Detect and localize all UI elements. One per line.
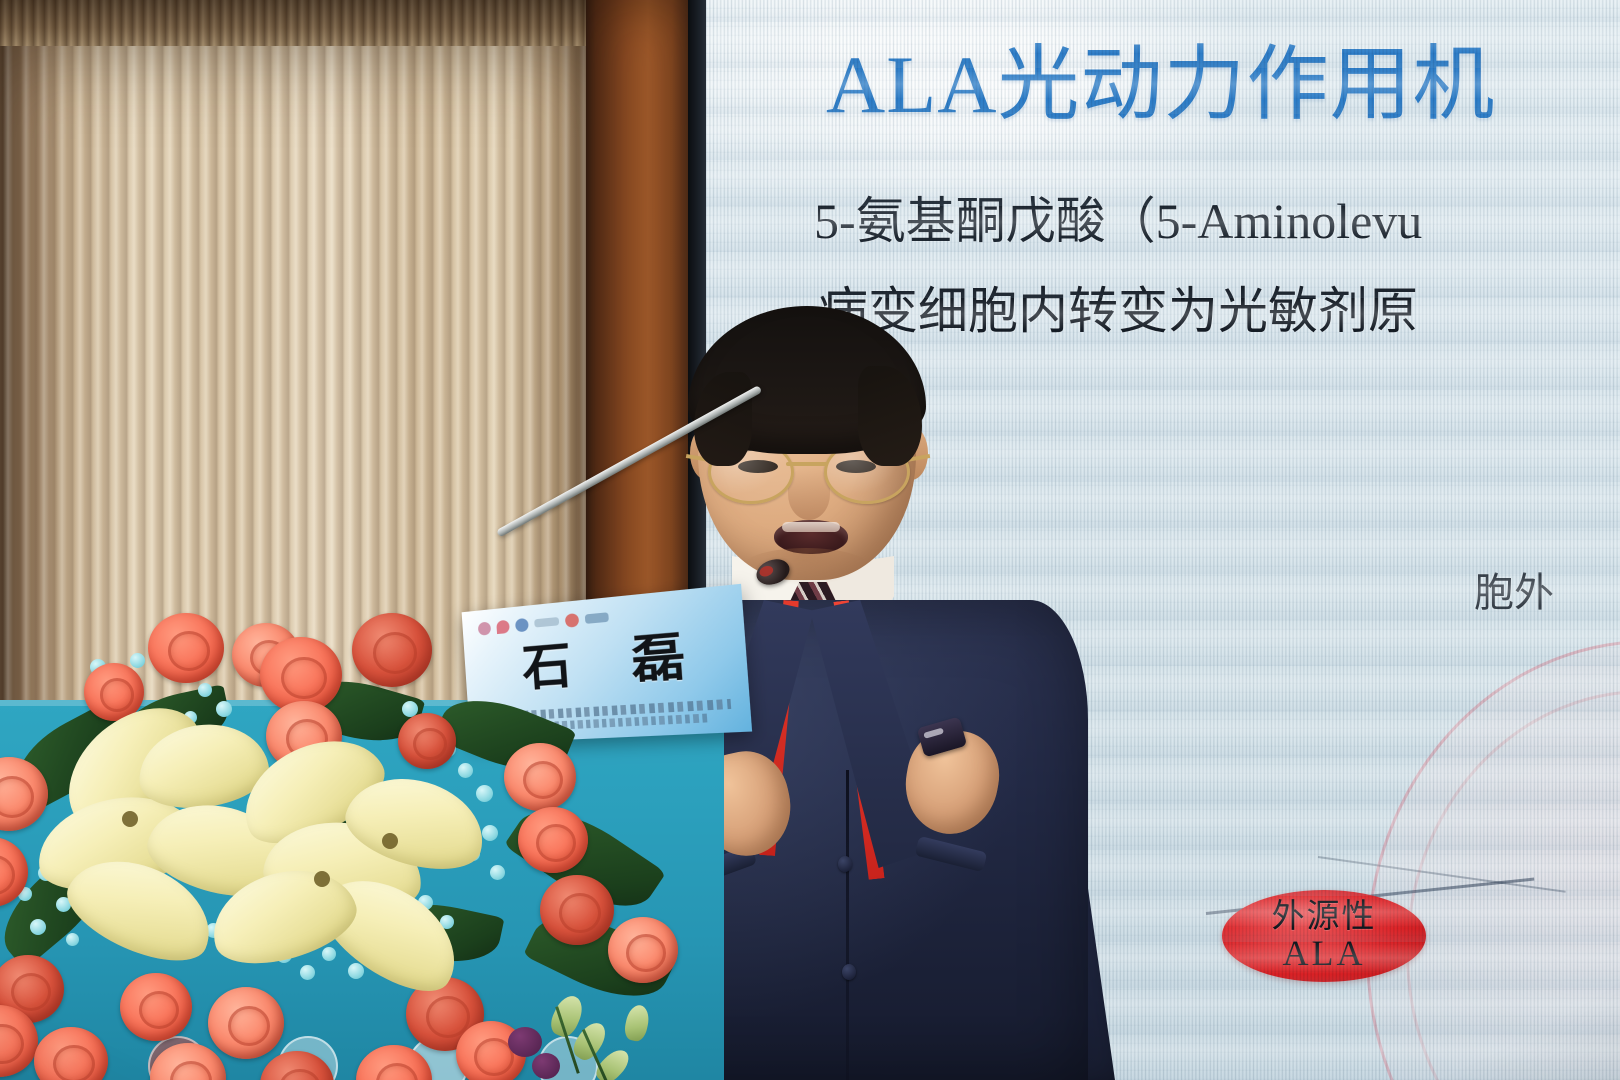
rose-bloom	[120, 973, 192, 1041]
rose-bloom	[398, 713, 456, 769]
accent-flower	[532, 1053, 560, 1079]
floral-arrangement	[0, 575, 710, 1080]
speaker-jacket-button-bottom	[842, 964, 856, 980]
rose-bloom	[150, 1043, 226, 1080]
rose-bloom	[34, 1027, 108, 1080]
babys-breath-floret	[348, 963, 364, 979]
babys-breath-floret	[130, 653, 145, 668]
rose-bloom	[356, 1045, 432, 1080]
babys-breath-floret	[66, 933, 79, 946]
accent-flower	[508, 1027, 542, 1057]
babys-breath-floret	[300, 965, 315, 980]
babys-breath-floret	[458, 763, 473, 778]
babys-breath-floret	[476, 785, 493, 802]
babys-breath-floret	[198, 683, 212, 697]
babys-breath-floret	[482, 825, 498, 841]
rose-bloom	[260, 1051, 334, 1080]
lily-stamen	[314, 871, 330, 887]
curtain-header-rail	[0, 0, 588, 46]
lily-stamen	[122, 811, 138, 827]
rose-bloom	[352, 613, 432, 687]
rose-bloom	[148, 613, 224, 683]
speaker-jacket-placket	[846, 770, 849, 1080]
rose-bloom	[518, 807, 588, 873]
rose-bloom	[608, 917, 678, 983]
freesia-bud	[622, 1003, 651, 1043]
babys-breath-floret	[490, 865, 505, 880]
conference-photo-scene: ALA光动力作用机 5-氨基酮戊酸（5-Aminolevu 病变细胞内转变为光敏…	[0, 0, 1620, 1080]
rose-bloom	[540, 875, 614, 945]
lily-stamen	[382, 833, 398, 849]
eyeglass-bridge	[786, 462, 828, 466]
babys-breath-floret	[322, 947, 336, 961]
babys-breath-floret	[216, 701, 232, 717]
babys-breath-floret	[30, 919, 46, 935]
rose-bloom	[504, 743, 576, 811]
rose-bloom	[208, 987, 284, 1059]
speaker-teeth	[782, 522, 840, 532]
speaker-hair	[688, 306, 926, 454]
speaker-jacket-button-top	[838, 856, 852, 872]
